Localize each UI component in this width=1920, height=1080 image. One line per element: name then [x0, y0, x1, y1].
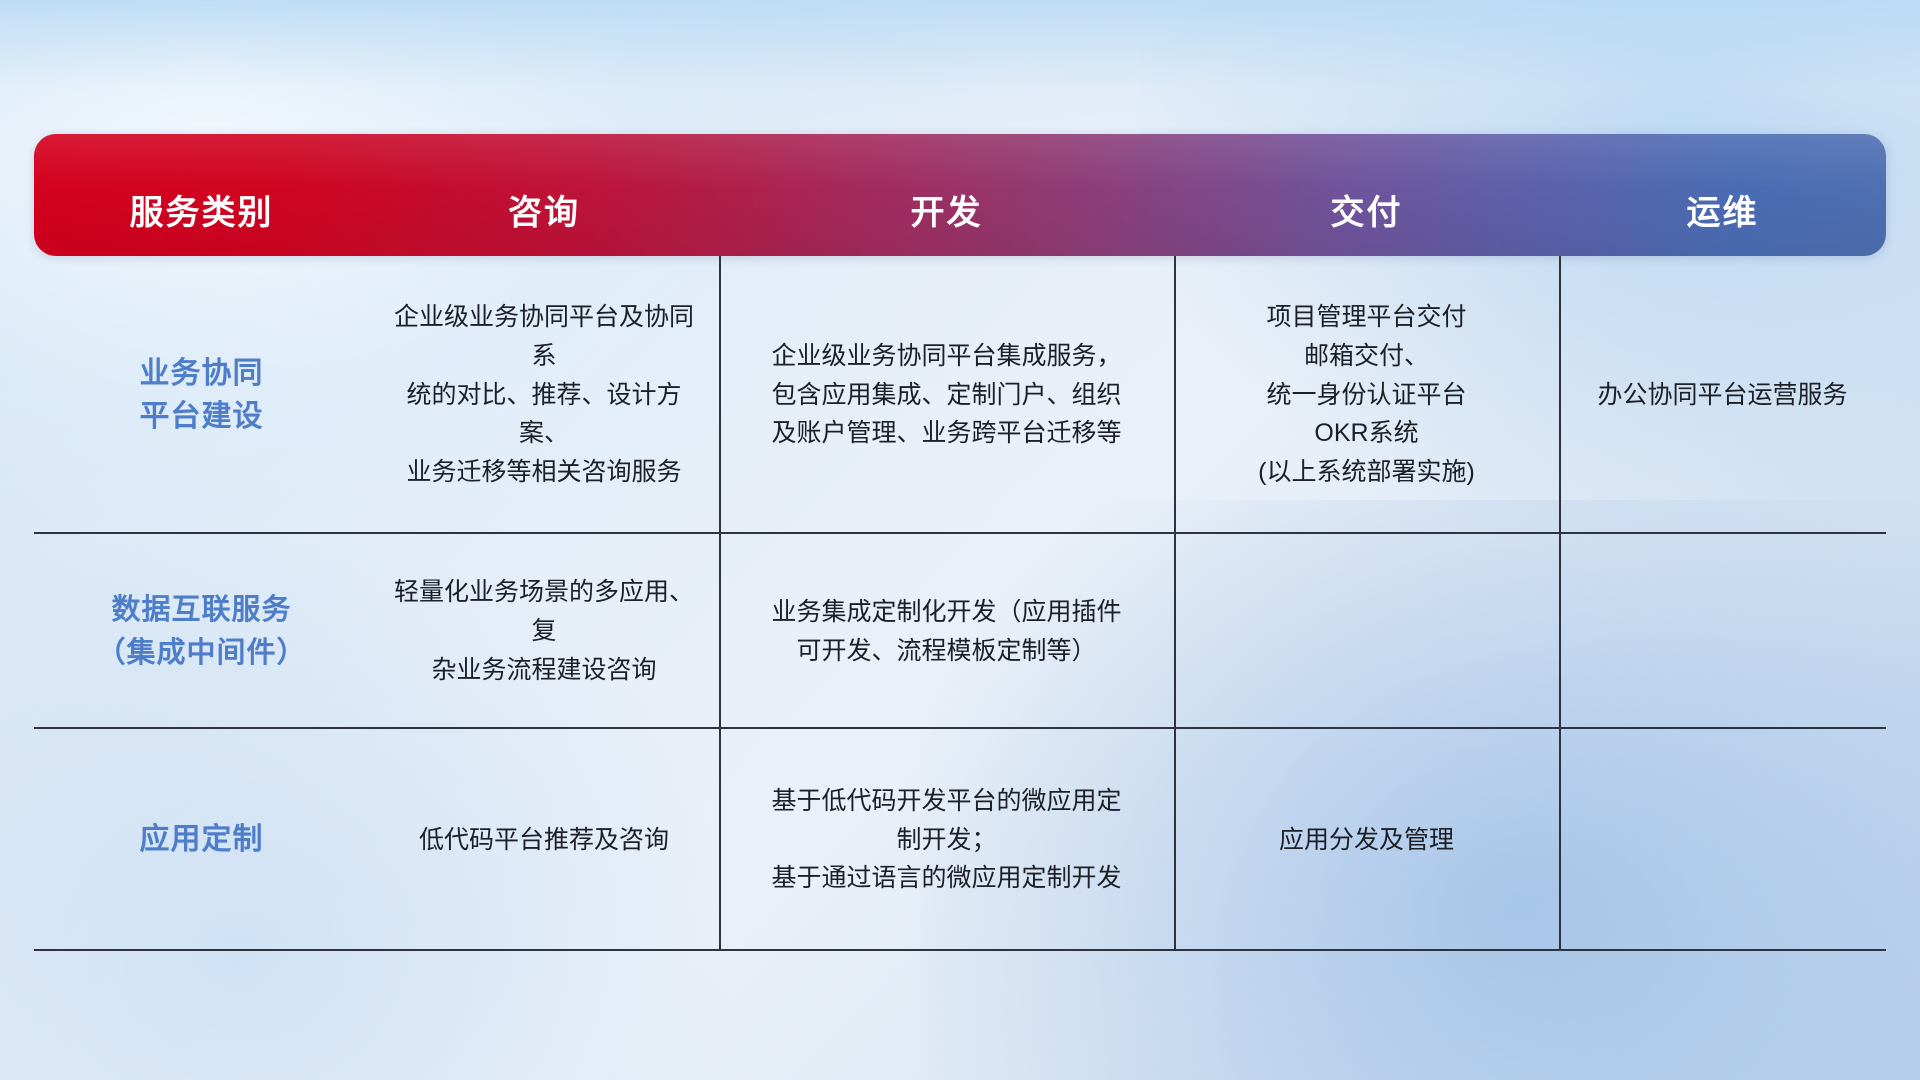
column-header-operations: 运维: [1559, 185, 1886, 256]
cell-text: 基于低代码开发平台的微应用定 制开发； 基于通过语言的微应用定制开发: [771, 782, 1121, 898]
cell-text: 项目管理平台交付 邮箱交付、 统一身份认证平台 OKR系统 (以上系统部署实施): [1258, 298, 1475, 492]
cell-operations: [1559, 534, 1886, 729]
cell-delivery: 项目管理平台交付 邮箱交付、 统一身份认证平台 OKR系统 (以上系统部署实施): [1174, 256, 1559, 534]
column-header-development: 开发: [719, 185, 1174, 256]
table-body: 业务协同 平台建设 企业级业务协同平台及协同系 统的对比、推荐、设计方案、 业务…: [34, 256, 1886, 951]
cell-text: 轻量化业务场景的多应用、复 杂业务流程建设咨询: [385, 573, 703, 689]
column-header-category: 服务类别: [34, 185, 369, 256]
row-label-text: 应用定制: [140, 818, 264, 862]
cell-delivery: 应用分发及管理: [1174, 729, 1559, 951]
row-label-text: 数据互联服务 （集成中间件）: [96, 589, 306, 673]
cell-operations: [1559, 729, 1886, 951]
cell-development: 基于低代码开发平台的微应用定 制开发； 基于通过语言的微应用定制开发: [719, 729, 1174, 951]
service-matrix-table: 服务类别 咨询 开发 交付 运维 业务协同 平台建设 企业级业务协同平台及协同系…: [34, 134, 1886, 951]
table-row: 业务协同 平台建设 企业级业务协同平台及协同系 统的对比、推荐、设计方案、 业务…: [34, 256, 1886, 534]
cell-consulting: 轻量化业务场景的多应用、复 杂业务流程建设咨询: [369, 534, 719, 729]
column-header-consulting: 咨询: [369, 185, 719, 256]
cell-text: 企业级业务协同平台集成服务， 包含应用集成、定制门户、组织 及账户管理、业务跨平…: [771, 337, 1121, 453]
cell-consulting: 低代码平台推荐及咨询: [369, 729, 719, 951]
cell-development: 企业级业务协同平台集成服务， 包含应用集成、定制门户、组织 及账户管理、业务跨平…: [719, 256, 1174, 534]
cell-text: 业务集成定制化开发（应用插件 可开发、流程模板定制等）: [771, 593, 1121, 671]
cell-development: 业务集成定制化开发（应用插件 可开发、流程模板定制等）: [719, 534, 1174, 729]
table-header-row: 服务类别 咨询 开发 交付 运维: [34, 134, 1886, 256]
row-label-cell: 数据互联服务 （集成中间件）: [34, 534, 369, 729]
cell-text: 企业级业务协同平台及协同系 统的对比、推荐、设计方案、 业务迁移等相关咨询服务: [385, 298, 703, 492]
row-label-text: 业务协同 平台建设: [140, 352, 264, 439]
column-header-delivery: 交付: [1174, 185, 1559, 256]
cell-text: 应用分发及管理: [1279, 821, 1454, 860]
cell-consulting: 企业级业务协同平台及协同系 统的对比、推荐、设计方案、 业务迁移等相关咨询服务: [369, 256, 719, 534]
table-row: 应用定制 低代码平台推荐及咨询 基于低代码开发平台的微应用定 制开发； 基于通过…: [34, 729, 1886, 951]
cell-text: 低代码平台推荐及咨询: [419, 821, 669, 860]
cell-delivery: [1174, 534, 1559, 729]
cell-text: 办公协同平台运营服务: [1597, 376, 1847, 415]
row-label-cell: 业务协同 平台建设: [34, 256, 369, 534]
row-label-cell: 应用定制: [34, 729, 369, 951]
cell-operations: 办公协同平台运营服务: [1559, 256, 1886, 534]
table-row: 数据互联服务 （集成中间件） 轻量化业务场景的多应用、复 杂业务流程建设咨询 业…: [34, 534, 1886, 729]
background-top-sheen: [0, 0, 1920, 150]
